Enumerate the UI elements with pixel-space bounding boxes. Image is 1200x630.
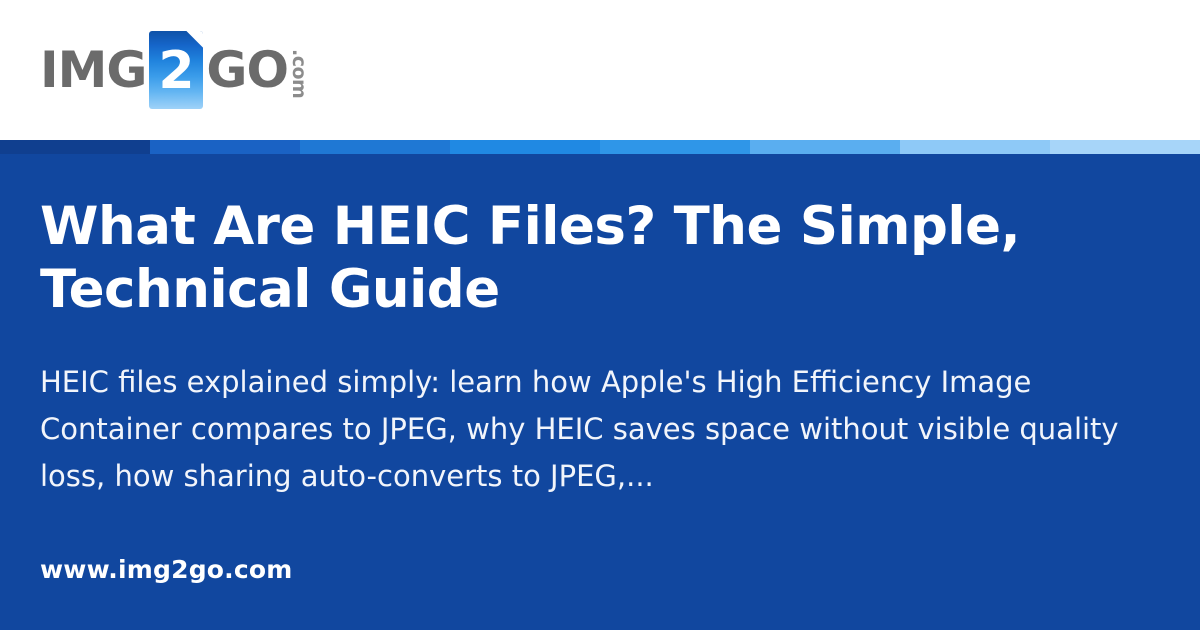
logo-text-dotcom: .com [289,49,308,98]
logo-text-go: GO [206,45,288,95]
page-title: What Are HEIC Files? The Simple, Technic… [40,196,1160,321]
strip-segment-5 [600,140,750,154]
page-description: HEIC files explained simply: learn how A… [40,359,1160,500]
strip-segment-1 [0,140,150,154]
strip-segment-3 [300,140,450,154]
document-badge-icon: 2 [149,31,203,109]
open-graph-card: IMG 2 GO .com What Are HEIC Files? The S… [0,0,1200,630]
logo-text-img: IMG [40,45,146,95]
img2go-logo[interactable]: IMG 2 GO .com [40,35,308,105]
site-url[interactable]: www.img2go.com [40,555,1160,584]
strip-segment-7 [900,140,1050,154]
strip-segment-6 [750,140,900,154]
card-body: What Are HEIC Files? The Simple, Technic… [0,154,1200,630]
strip-segment-8 [1050,140,1200,154]
header-bar: IMG 2 GO .com [0,0,1200,140]
gradient-accent-bar [0,140,1200,154]
strip-segment-2 [150,140,300,154]
logo-badge-number: 2 [158,45,194,97]
strip-segment-4 [450,140,600,154]
